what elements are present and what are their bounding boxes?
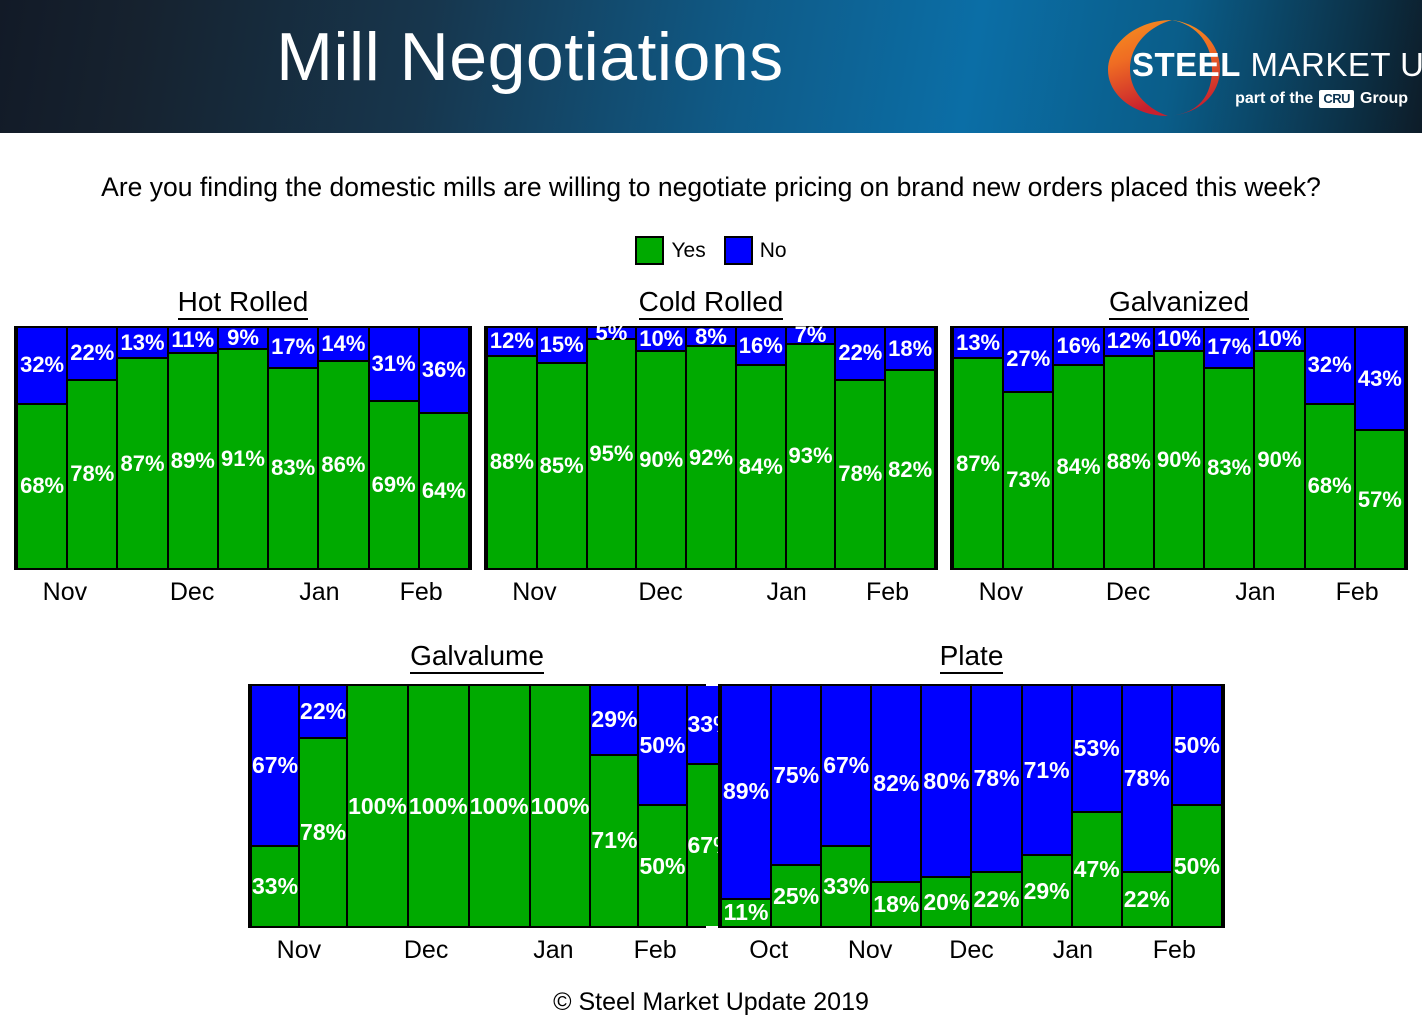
bar-segment-yes: 68% bbox=[18, 405, 66, 568]
stacked-bar[interactable]: 13%87% bbox=[116, 328, 168, 568]
bar-value-label-no: 67% bbox=[823, 754, 869, 777]
bar-segment-no: 7% bbox=[787, 328, 835, 345]
bar-segment-yes: 84% bbox=[737, 366, 785, 568]
bar-value-label-yes: 93% bbox=[789, 445, 833, 467]
bar-value-label-no: 36% bbox=[422, 359, 466, 381]
bar-value-label-no: 12% bbox=[490, 330, 534, 352]
bar-value-label-yes: 100% bbox=[348, 795, 407, 818]
chart-x-axis: NovDecJanFeb bbox=[484, 578, 938, 607]
bar-segment-no: 80% bbox=[922, 686, 970, 878]
bar-value-label-yes: 87% bbox=[121, 453, 165, 475]
bar-value-label-no: 18% bbox=[888, 338, 932, 360]
bar-segment-no: 78% bbox=[972, 686, 1020, 873]
bar-segment-no: 31% bbox=[370, 328, 418, 402]
bar-value-label-no: 71% bbox=[1024, 759, 1070, 782]
stacked-bar[interactable]: 75%25% bbox=[770, 686, 822, 926]
stacked-bar[interactable]: 5%95% bbox=[586, 328, 638, 568]
x-axis-tick-label: Nov bbox=[819, 936, 920, 965]
bar-segment-yes: 78% bbox=[300, 739, 346, 926]
stacked-bar[interactable]: 16%84% bbox=[1052, 328, 1104, 568]
bar-value-label-no: 29% bbox=[591, 708, 637, 731]
bar-value-label-no: 10% bbox=[1157, 328, 1201, 350]
bar-value-label-yes: 83% bbox=[271, 457, 315, 479]
bar-value-label-yes: 78% bbox=[70, 463, 114, 485]
chart-panel-hot-rolled: Hot Rolled32%68%22%78%13%87%11%89%9%91%1… bbox=[14, 286, 472, 612]
bar-segment-no: 16% bbox=[1054, 328, 1102, 366]
bar-value-label-yes: 87% bbox=[956, 453, 1000, 475]
bar-segment-yes: 11% bbox=[722, 900, 770, 926]
bar-value-label-no: 89% bbox=[723, 780, 769, 803]
legend-label-no: No bbox=[760, 239, 787, 263]
bar-value-label-yes: 91% bbox=[221, 448, 265, 470]
bar-segment-no: 32% bbox=[18, 328, 66, 405]
stacked-bar[interactable]: 17%83% bbox=[267, 328, 319, 568]
logo-tagline-pre: part of the bbox=[1235, 90, 1313, 108]
bar-segment-yes: 64% bbox=[420, 414, 468, 568]
stacked-bar[interactable]: 100% bbox=[468, 686, 531, 926]
bar-segment-no: 12% bbox=[488, 328, 536, 357]
bar-segment-no: 10% bbox=[1155, 328, 1203, 352]
bar-value-label-yes: 11% bbox=[724, 901, 769, 924]
x-axis-tick-label: Dec bbox=[585, 578, 736, 607]
stacked-bar[interactable]: 78%22% bbox=[1121, 686, 1173, 926]
stacked-bar[interactable]: 100% bbox=[529, 686, 592, 926]
bar-value-label-yes: 78% bbox=[838, 463, 882, 485]
slide-canvas: Mill Negotiations STEEL MARKET UPDATE pa… bbox=[0, 0, 1422, 1030]
bar-value-label-no: 31% bbox=[372, 353, 416, 375]
bar-value-label-yes: 33% bbox=[823, 875, 869, 898]
bar-segment-no: 9% bbox=[219, 328, 267, 350]
bar-segment-yes: 22% bbox=[972, 873, 1020, 926]
bar-value-label-yes: 84% bbox=[1057, 456, 1101, 478]
bar-segment-yes: 78% bbox=[68, 381, 116, 568]
bar-value-label-yes: 18% bbox=[873, 893, 919, 916]
legend-swatch-yes-icon bbox=[635, 236, 664, 265]
logo-tagline-post: Group bbox=[1360, 90, 1408, 108]
bar-segment-no: 50% bbox=[639, 686, 685, 806]
cru-badge: CRU bbox=[1319, 90, 1354, 108]
bar-value-label-no: 22% bbox=[300, 700, 346, 723]
bar-segment-no: 82% bbox=[872, 686, 920, 883]
bar-value-label-no: 82% bbox=[873, 772, 919, 795]
bar-value-label-yes: 95% bbox=[589, 443, 633, 465]
stacked-bar[interactable]: 36%64% bbox=[418, 328, 470, 568]
bar-value-label-no: 7% bbox=[795, 324, 827, 346]
logo-wordmark: STEEL MARKET UPDATE bbox=[1132, 48, 1422, 81]
stacked-bar[interactable]: 22%78% bbox=[298, 686, 348, 926]
stacked-bar[interactable]: 18%82% bbox=[884, 328, 936, 568]
bar-value-label-yes: 100% bbox=[409, 795, 468, 818]
bar-value-label-yes: 68% bbox=[1308, 475, 1352, 497]
page-title: Mill Negotiations bbox=[0, 18, 1060, 96]
chart-x-axis: NovDecJanFeb bbox=[14, 578, 472, 607]
chart-title: Galvalume bbox=[248, 640, 706, 672]
bar-value-label-no: 78% bbox=[1124, 767, 1170, 790]
copyright-footer: © Steel Market Update 2019 bbox=[0, 988, 1422, 1017]
bar-segment-yes: 87% bbox=[954, 359, 1002, 568]
x-axis-tick-label: Jan bbox=[268, 578, 370, 607]
chart-title: Plate bbox=[718, 640, 1225, 672]
stacked-bar[interactable]: 7%93% bbox=[785, 328, 837, 568]
bar-segment-no: 5% bbox=[588, 328, 636, 340]
chart-x-axis: NovDecJanFeb bbox=[248, 936, 706, 965]
bar-value-label-no: 13% bbox=[956, 332, 1000, 354]
x-axis-tick-label: Jan bbox=[736, 578, 837, 607]
stacked-bar[interactable]: 50%50% bbox=[637, 686, 687, 926]
bar-value-label-yes: 57% bbox=[1358, 489, 1402, 511]
bar-segment-no: 13% bbox=[118, 328, 166, 359]
legend-swatch-no-icon bbox=[724, 236, 753, 265]
bar-value-label-no: 14% bbox=[321, 333, 365, 355]
bar-value-label-yes: 50% bbox=[639, 855, 685, 878]
bar-segment-no: 75% bbox=[772, 686, 820, 866]
x-axis-tick-label: Jan bbox=[1022, 936, 1123, 965]
chart-title-text: Galvalume bbox=[410, 640, 544, 674]
bar-segment-no: 10% bbox=[637, 328, 685, 352]
bar-segment-yes: 50% bbox=[1173, 806, 1221, 926]
stacked-bar[interactable]: 78%22% bbox=[970, 686, 1022, 926]
logo-tagline: part of the CRU Group bbox=[1235, 90, 1408, 108]
stacked-bar[interactable]: 14%86% bbox=[317, 328, 369, 568]
stacked-bar[interactable]: 100% bbox=[407, 686, 470, 926]
chart-title: Hot Rolled bbox=[14, 286, 472, 318]
bar-value-label-yes: 88% bbox=[490, 451, 534, 473]
bar-value-label-no: 10% bbox=[639, 328, 683, 350]
bar-segment-no: 89% bbox=[722, 686, 770, 900]
stacked-bar[interactable]: 27%73% bbox=[1002, 328, 1054, 568]
bar-value-label-yes: 73% bbox=[1006, 469, 1050, 491]
bar-value-label-yes: 50% bbox=[1174, 855, 1220, 878]
bar-value-label-no: 80% bbox=[923, 770, 969, 793]
stacked-bar[interactable]: 71%29% bbox=[1021, 686, 1073, 926]
x-axis-tick-label: Jan bbox=[502, 936, 604, 965]
bar-segment-no: 17% bbox=[1205, 328, 1253, 369]
stacked-bar[interactable]: 12%88% bbox=[486, 328, 538, 568]
chart-panel-galvalume: Galvalume67%33%22%78%100%100%100%100%29%… bbox=[248, 640, 706, 980]
bar-segment-no: 67% bbox=[822, 686, 870, 847]
bar-segment-no: 15% bbox=[538, 328, 586, 364]
x-axis-tick-label: Nov bbox=[484, 578, 585, 607]
chart-panel-plate: Plate89%11%75%25%67%33%82%18%80%20%78%22… bbox=[718, 640, 1225, 980]
stacked-bar[interactable]: 17%83% bbox=[1203, 328, 1255, 568]
x-axis-tick-label: Feb bbox=[604, 936, 706, 965]
bar-value-label-yes: 82% bbox=[888, 459, 932, 481]
stacked-bar[interactable]: 12%88% bbox=[1103, 328, 1155, 568]
bar-value-label-no: 22% bbox=[70, 342, 114, 364]
bar-value-label-no: 50% bbox=[1174, 734, 1220, 757]
bar-segment-yes: 68% bbox=[1306, 405, 1354, 568]
bar-segment-no: 14% bbox=[319, 328, 367, 362]
stacked-bar[interactable]: 67%33% bbox=[250, 686, 300, 926]
x-axis-tick-label: Nov bbox=[248, 936, 350, 965]
bar-segment-yes: 93% bbox=[787, 345, 835, 568]
stacked-bar[interactable]: 50%50% bbox=[1171, 686, 1223, 926]
bar-value-label-yes: 78% bbox=[300, 821, 346, 844]
bar-value-label-yes: 90% bbox=[639, 449, 683, 471]
bar-segment-yes: 29% bbox=[1023, 856, 1071, 926]
bar-segment-yes: 90% bbox=[637, 352, 685, 568]
bar-value-label-no: 75% bbox=[773, 764, 819, 787]
bar-segment-yes: 90% bbox=[1255, 352, 1303, 568]
bar-segment-yes: 90% bbox=[1155, 352, 1203, 568]
bar-value-label-no: 15% bbox=[540, 334, 584, 356]
bar-segment-no: 10% bbox=[1255, 328, 1303, 352]
bar-value-label-yes: 84% bbox=[739, 456, 783, 478]
bar-value-label-no: 50% bbox=[639, 734, 685, 757]
bar-value-label-no: 32% bbox=[20, 354, 64, 376]
x-axis-tick-label: Oct bbox=[718, 936, 819, 965]
bar-value-label-yes: 85% bbox=[540, 455, 584, 477]
logo-word-market-update: MARKET UPDATE bbox=[1251, 46, 1422, 83]
stacked-bar[interactable]: 80%20% bbox=[920, 686, 972, 926]
bar-value-label-yes: 89% bbox=[171, 450, 215, 472]
bar-segment-no: 12% bbox=[1105, 328, 1153, 357]
stacked-bar[interactable]: 16%84% bbox=[735, 328, 787, 568]
stacked-bar[interactable]: 9%91% bbox=[217, 328, 269, 568]
bar-segment-no: 22% bbox=[300, 686, 346, 739]
chart-legend: Yes No bbox=[0, 236, 1422, 265]
steel-market-update-logo: STEEL MARKET UPDATE part of the CRU Grou… bbox=[1054, 12, 1414, 124]
x-axis-tick-label: Nov bbox=[14, 578, 116, 607]
chart-x-axis: OctNovDecJanFeb bbox=[718, 936, 1225, 965]
bar-segment-yes: 83% bbox=[269, 369, 317, 568]
bar-value-label-yes: 22% bbox=[973, 888, 1019, 911]
bar-segment-yes: 92% bbox=[687, 347, 735, 568]
bar-value-label-yes: 68% bbox=[20, 475, 64, 497]
bar-segment-yes: 95% bbox=[588, 340, 636, 568]
x-axis-tick-label: Dec bbox=[350, 936, 503, 965]
stacked-bar[interactable]: 67%33% bbox=[820, 686, 872, 926]
bar-segment-no: 8% bbox=[687, 328, 735, 347]
x-axis-tick-label: Nov bbox=[950, 578, 1052, 607]
chart-plot-area: 67%33%22%78%100%100%100%100%29%71%50%50%… bbox=[248, 684, 706, 928]
bar-segment-yes: 91% bbox=[219, 350, 267, 568]
x-axis-tick-label: Feb bbox=[1124, 936, 1225, 965]
bar-value-label-yes: 69% bbox=[372, 474, 416, 496]
bar-value-label-yes: 33% bbox=[252, 875, 298, 898]
bar-segment-no: 11% bbox=[169, 328, 217, 354]
bar-segment-yes: 88% bbox=[1105, 357, 1153, 568]
chart-title-text: Hot Rolled bbox=[178, 286, 309, 320]
bar-segment-no: 67% bbox=[252, 686, 298, 847]
bar-segment-yes: 82% bbox=[886, 371, 934, 568]
bar-segment-yes: 57% bbox=[1356, 431, 1404, 568]
x-axis-tick-label: Dec bbox=[921, 936, 1022, 965]
bar-value-label-yes: 88% bbox=[1107, 451, 1151, 473]
bar-value-label-yes: 90% bbox=[1257, 449, 1301, 471]
x-axis-tick-label: Feb bbox=[1306, 578, 1408, 607]
stacked-bar[interactable]: 22%78% bbox=[66, 328, 118, 568]
stacked-bar[interactable]: 32%68% bbox=[1304, 328, 1356, 568]
bar-value-label-no: 17% bbox=[271, 336, 315, 358]
stacked-bar[interactable]: 82%18% bbox=[870, 686, 922, 926]
bar-segment-yes: 100% bbox=[409, 686, 468, 926]
legend-item-no: No bbox=[724, 236, 787, 265]
bar-value-label-no: 9% bbox=[227, 327, 259, 349]
bar-segment-no: 53% bbox=[1073, 686, 1121, 813]
chart-plot-area: 89%11%75%25%67%33%82%18%80%20%78%22%71%2… bbox=[718, 684, 1225, 928]
chart-plot-area: 12%88%15%85%5%95%10%90%8%92%16%84%7%93%2… bbox=[484, 326, 938, 570]
stacked-bar[interactable]: 31%69% bbox=[368, 328, 420, 568]
bar-segment-no: 18% bbox=[886, 328, 934, 371]
bar-value-label-no: 16% bbox=[739, 335, 783, 357]
bar-value-label-yes: 20% bbox=[923, 891, 969, 914]
bar-segment-no: 17% bbox=[269, 328, 317, 369]
bar-segment-yes: 25% bbox=[772, 866, 820, 926]
chart-panel-cold-rolled: Cold Rolled12%88%15%85%5%95%10%90%8%92%1… bbox=[484, 286, 938, 612]
bar-segment-yes: 100% bbox=[531, 686, 590, 926]
bar-segment-no: 27% bbox=[1004, 328, 1052, 393]
bar-segment-yes: 20% bbox=[922, 878, 970, 926]
bar-segment-yes: 18% bbox=[872, 883, 920, 926]
bar-segment-no: 13% bbox=[954, 328, 1002, 359]
x-axis-tick-label: Jan bbox=[1204, 578, 1306, 607]
bar-segment-yes: 33% bbox=[822, 847, 870, 926]
bar-value-label-yes: 100% bbox=[531, 795, 590, 818]
chart-title-text: Galvanized bbox=[1109, 286, 1249, 320]
bar-segment-yes: 88% bbox=[488, 357, 536, 568]
stacked-bar[interactable]: 89%11% bbox=[720, 686, 772, 926]
stacked-bar[interactable]: 29%71% bbox=[589, 686, 639, 926]
survey-question: Are you finding the domestic mills are w… bbox=[0, 172, 1422, 203]
bar-segment-yes: 83% bbox=[1205, 369, 1253, 568]
bar-segment-no: 29% bbox=[591, 686, 637, 756]
chart-title: Galvanized bbox=[950, 286, 1408, 318]
bar-segment-yes: 69% bbox=[370, 402, 418, 568]
chart-title-text: Cold Rolled bbox=[639, 286, 784, 320]
chart-plot-area: 13%87%27%73%16%84%12%88%10%90%17%83%10%9… bbox=[950, 326, 1408, 570]
stacked-bar[interactable]: 10%90% bbox=[1253, 328, 1305, 568]
bar-value-label-yes: 22% bbox=[1124, 888, 1170, 911]
chart-x-axis: NovDecJanFeb bbox=[950, 578, 1408, 607]
bar-value-label-no: 67% bbox=[252, 754, 298, 777]
header-band: Mill Negotiations STEEL MARKET UPDATE pa… bbox=[0, 0, 1422, 133]
stacked-bar[interactable]: 43%57% bbox=[1354, 328, 1406, 568]
stacked-bar[interactable]: 22%78% bbox=[834, 328, 886, 568]
bar-segment-no: 50% bbox=[1173, 686, 1221, 806]
bar-segment-yes: 100% bbox=[470, 686, 529, 926]
bar-segment-yes: 87% bbox=[118, 359, 166, 568]
bar-value-label-yes: 83% bbox=[1207, 457, 1251, 479]
bar-segment-no: 22% bbox=[836, 328, 884, 381]
bar-segment-no: 43% bbox=[1356, 328, 1404, 431]
bar-segment-yes: 71% bbox=[591, 756, 637, 926]
bar-value-label-yes: 86% bbox=[321, 454, 365, 476]
bar-segment-yes: 89% bbox=[169, 354, 217, 568]
logo-word-steel: STEEL bbox=[1132, 46, 1241, 83]
bar-segment-yes: 85% bbox=[538, 364, 586, 568]
stacked-bar[interactable]: 10%90% bbox=[635, 328, 687, 568]
legend-item-yes: Yes bbox=[635, 236, 705, 265]
bar-segment-yes: 50% bbox=[639, 806, 685, 926]
bar-value-label-yes: 90% bbox=[1157, 449, 1201, 471]
bar-value-label-no: 17% bbox=[1207, 336, 1251, 358]
bar-value-label-yes: 92% bbox=[689, 447, 733, 469]
bar-value-label-no: 12% bbox=[1107, 330, 1151, 352]
legend-label-yes: Yes bbox=[671, 239, 705, 263]
bar-value-label-no: 8% bbox=[695, 326, 727, 348]
bar-segment-yes: 78% bbox=[836, 381, 884, 568]
bar-value-label-no: 10% bbox=[1257, 328, 1301, 350]
bar-segment-no: 78% bbox=[1123, 686, 1171, 873]
chart-panel-galvanized: Galvanized13%87%27%73%16%84%12%88%10%90%… bbox=[950, 286, 1408, 612]
bar-segment-no: 16% bbox=[737, 328, 785, 366]
bar-segment-no: 32% bbox=[1306, 328, 1354, 405]
stacked-bar[interactable]: 32%68% bbox=[16, 328, 68, 568]
stacked-bar[interactable]: 100% bbox=[346, 686, 409, 926]
stacked-bar[interactable]: 13%87% bbox=[952, 328, 1004, 568]
bar-value-label-no: 27% bbox=[1006, 348, 1050, 370]
chart-title-text: Plate bbox=[940, 640, 1004, 674]
bar-segment-yes: 100% bbox=[348, 686, 407, 926]
bar-value-label-no: 16% bbox=[1057, 335, 1101, 357]
bar-value-label-no: 11% bbox=[171, 329, 214, 351]
x-axis-tick-label: Feb bbox=[370, 578, 472, 607]
bar-value-label-no: 32% bbox=[1308, 354, 1352, 376]
bar-value-label-yes: 29% bbox=[1024, 880, 1070, 903]
stacked-bar[interactable]: 15%85% bbox=[536, 328, 588, 568]
bar-segment-yes: 84% bbox=[1054, 366, 1102, 568]
bar-value-label-no: 43% bbox=[1358, 368, 1402, 390]
bar-value-label-yes: 71% bbox=[591, 829, 637, 852]
bar-segment-no: 36% bbox=[420, 328, 468, 414]
bar-segment-yes: 86% bbox=[319, 362, 367, 568]
bar-value-label-no: 22% bbox=[838, 342, 882, 364]
bar-value-label-yes: 64% bbox=[422, 480, 466, 502]
bar-segment-yes: 33% bbox=[252, 847, 298, 926]
stacked-bar[interactable]: 8%92% bbox=[685, 328, 737, 568]
stacked-bar[interactable]: 53%47% bbox=[1071, 686, 1123, 926]
bar-segment-no: 22% bbox=[68, 328, 116, 381]
x-axis-tick-label: Dec bbox=[116, 578, 269, 607]
bar-value-label-no: 13% bbox=[121, 332, 165, 354]
x-axis-tick-label: Feb bbox=[837, 578, 938, 607]
bar-segment-yes: 47% bbox=[1073, 813, 1121, 926]
bar-segment-no: 71% bbox=[1023, 686, 1071, 856]
stacked-bar[interactable]: 11%89% bbox=[167, 328, 219, 568]
bar-segment-yes: 73% bbox=[1004, 393, 1052, 568]
bar-segment-yes: 22% bbox=[1123, 873, 1171, 926]
chart-title: Cold Rolled bbox=[484, 286, 938, 318]
bar-value-label-yes: 25% bbox=[773, 885, 819, 908]
bar-value-label-no: 78% bbox=[973, 767, 1019, 790]
x-axis-tick-label: Dec bbox=[1052, 578, 1205, 607]
stacked-bar[interactable]: 10%90% bbox=[1153, 328, 1205, 568]
bar-value-label-yes: 100% bbox=[470, 795, 529, 818]
bar-value-label-yes: 47% bbox=[1074, 858, 1120, 881]
chart-plot-area: 32%68%22%78%13%87%11%89%9%91%17%83%14%86… bbox=[14, 326, 472, 570]
bar-value-label-no: 53% bbox=[1074, 737, 1120, 760]
